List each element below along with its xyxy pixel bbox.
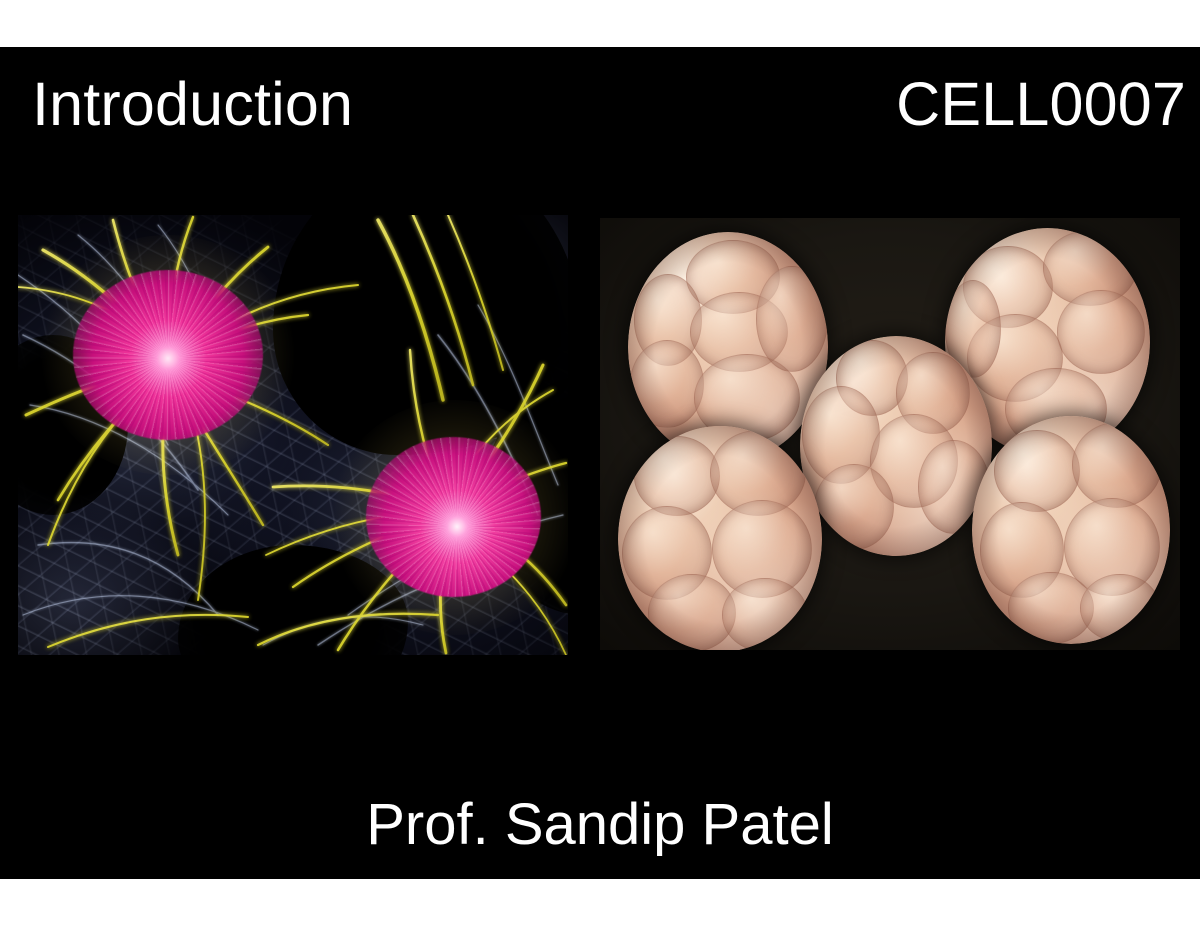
embryo-shading xyxy=(972,416,1170,644)
presenter-name: Prof. Sandip Patel xyxy=(0,789,1200,861)
page-margin-top xyxy=(0,0,1200,47)
slide-header: Introduction CELL0007 xyxy=(0,63,1200,145)
embryo-shading xyxy=(618,426,822,650)
embryo xyxy=(972,416,1170,644)
mitosis-fluorescence-micrograph xyxy=(18,215,568,655)
embryo xyxy=(618,426,822,650)
early-embryos-photomicrograph xyxy=(600,218,1180,650)
aster-rays xyxy=(366,437,541,597)
page-margin-bottom xyxy=(0,879,1200,927)
aster-rays xyxy=(73,270,263,440)
course-code: CELL0007 xyxy=(896,63,1186,145)
slide-page: Introduction CELL0007 xyxy=(0,0,1200,927)
embryo xyxy=(800,336,992,556)
presentation-slide: Introduction CELL0007 xyxy=(0,47,1200,879)
page-title: Introduction xyxy=(32,63,353,145)
embryo-shading xyxy=(800,336,992,556)
